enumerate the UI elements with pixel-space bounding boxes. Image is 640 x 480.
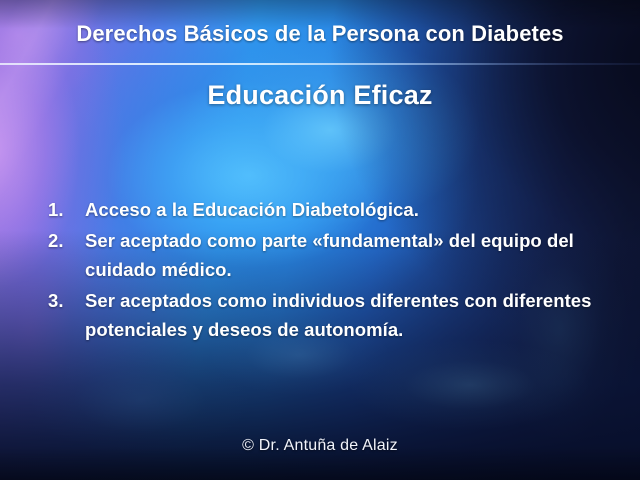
slide-title: Derechos Básicos de la Persona con Diabe…: [0, 21, 640, 47]
list-item-number: 1.: [48, 195, 74, 225]
list-item-text: Ser aceptados como individuos diferentes…: [85, 290, 592, 341]
slide-content: Derechos Básicos de la Persona con Diabe…: [0, 0, 640, 480]
list-item: 2. Ser aceptado como parte «fundamental»…: [48, 226, 608, 285]
list-item-text: Ser aceptado como parte «fundamental» de…: [85, 230, 574, 281]
list-item-text: Acceso a la Educación Diabetológica.: [85, 199, 419, 220]
numbered-list: 1. Acceso a la Educación Diabetológica. …: [48, 195, 608, 346]
list-item: 3. Ser aceptados como individuos diferen…: [48, 286, 608, 345]
list-item-number: 2.: [48, 226, 74, 256]
copyright-footer: © Dr. Antuña de Alaiz: [0, 437, 640, 455]
list-item-number: 3.: [48, 286, 74, 316]
slide-subtitle: Educación Eficaz: [0, 80, 640, 111]
presentation-slide: Derechos Básicos de la Persona con Diabe…: [0, 0, 640, 480]
title-divider-rule: [0, 63, 640, 65]
list-item: 1. Acceso a la Educación Diabetológica.: [48, 195, 608, 225]
